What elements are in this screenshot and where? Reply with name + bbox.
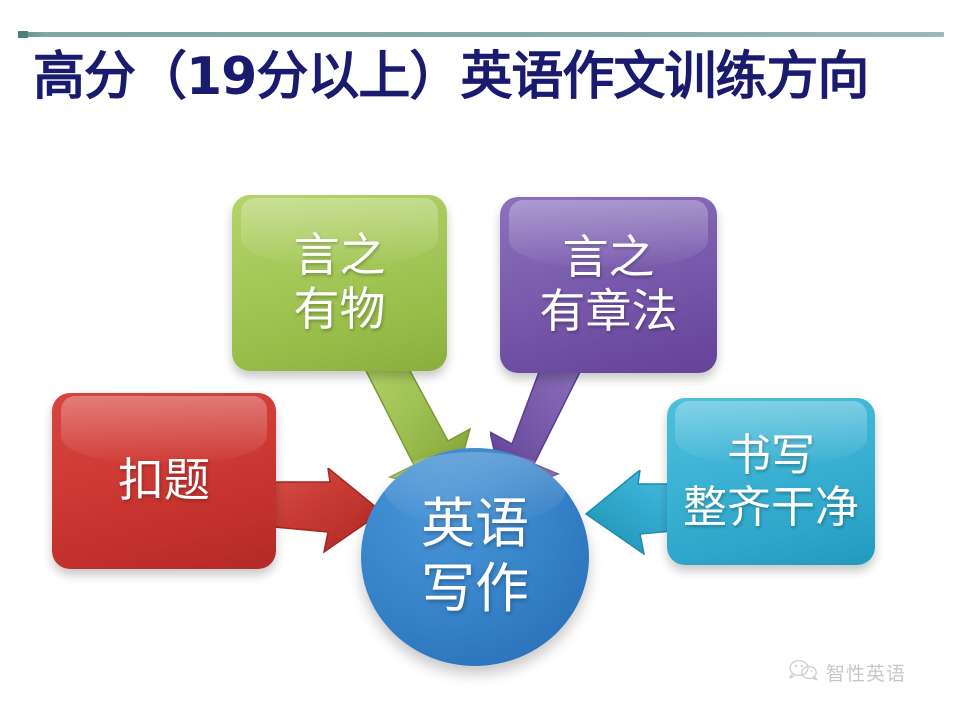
node-red-line-1: 扣题 xyxy=(118,454,210,508)
node-green-line-1: 言之 xyxy=(294,229,386,283)
node-purple-yanzhi-youzhangfa[interactable]: 言之 有章法 xyxy=(500,197,717,373)
node-center-english-writing[interactable]: 英语 写作 xyxy=(361,448,589,666)
node-green-line-2: 有物 xyxy=(294,283,386,337)
node-cyan-shuxie-zhengqiganjing[interactable]: 书写 整齐干净 xyxy=(667,398,875,565)
title-divider-cap xyxy=(18,31,28,38)
watermark: 智性英语 xyxy=(788,658,906,687)
page-title: 高分（19分以上）英语作文训练方向 xyxy=(33,48,933,108)
node-center-line-1: 英语 xyxy=(421,492,529,557)
wechat-icon xyxy=(788,658,818,687)
node-green-yanzhi-youwu[interactable]: 言之 有物 xyxy=(232,195,447,371)
node-cyan-line-2: 整齐干净 xyxy=(683,482,859,534)
node-purple-line-2: 有章法 xyxy=(540,285,678,339)
title-divider-rule xyxy=(18,32,944,37)
watermark-label: 智性英语 xyxy=(826,659,906,686)
node-purple-line-1: 言之 xyxy=(563,231,655,285)
node-cyan-line-1: 书写 xyxy=(727,430,815,482)
node-center-line-2: 写作 xyxy=(421,557,529,622)
slide-canvas: 高分（19分以上）英语作文训练方向 xyxy=(0,0,960,720)
node-red-kouti[interactable]: 扣题 xyxy=(52,393,276,569)
